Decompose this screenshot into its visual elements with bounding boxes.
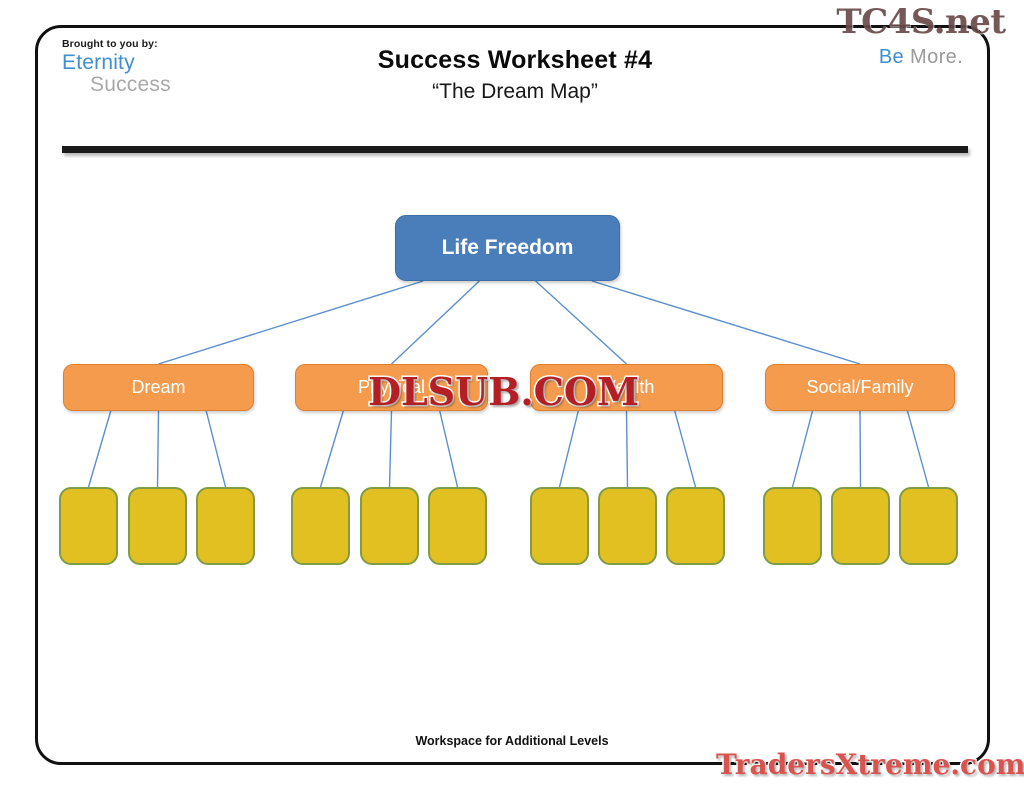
tc4s-tagline-accent: Be: [879, 46, 904, 68]
page-subtitle: “The Dream Map”: [300, 80, 730, 104]
tradersxtreme-watermark: TradersXtreme.com: [716, 748, 1024, 781]
dlsub-watermark: DLSUB.COM: [368, 369, 639, 414]
tc4s-logo-block: TC4S.net Be More.: [826, 2, 1016, 69]
workspace-note: Workspace for Additional Levels: [0, 734, 1024, 748]
title-block: Success Worksheet #4 “The Dream Map”: [300, 46, 730, 104]
tc4s-tagline-rest: More.: [904, 46, 963, 68]
brand-tagline: Brought to you by:: [62, 38, 292, 50]
worksheet-page: Brought to you by: Eternity Success Succ…: [0, 0, 1024, 791]
brand-name-eternity: Eternity: [62, 52, 292, 74]
tc4s-logo-text: TC4S.net: [826, 2, 1016, 42]
tc4s-tagline: Be More.: [826, 46, 1016, 69]
brand-name-success: Success: [90, 74, 292, 96]
header-divider: [62, 146, 968, 153]
brand-block: Brought to you by: Eternity Success: [62, 38, 292, 96]
page-title: Success Worksheet #4: [300, 46, 730, 75]
